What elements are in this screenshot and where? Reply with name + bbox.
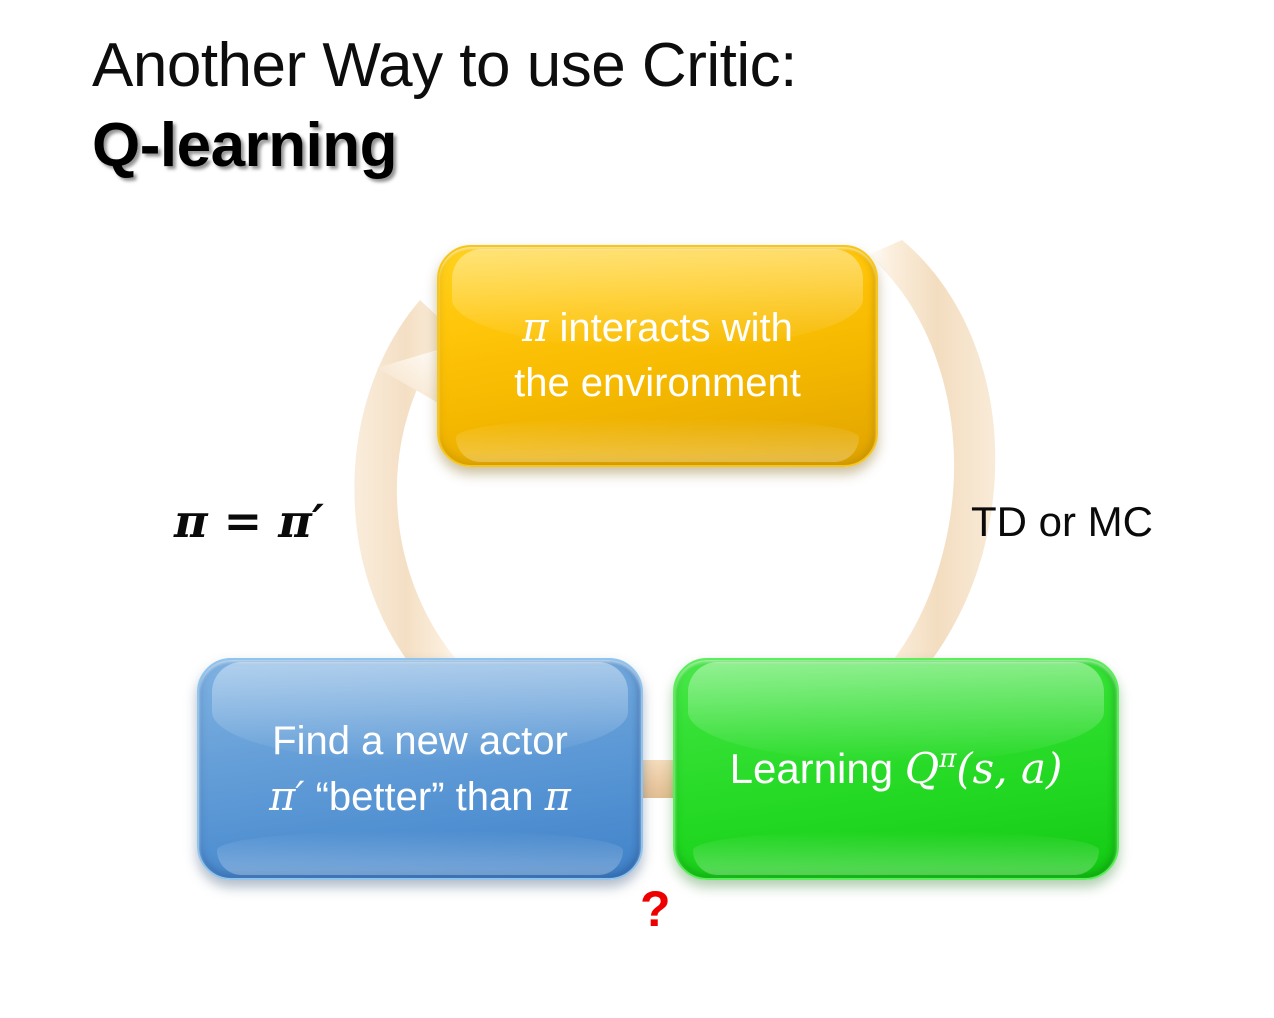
node-new-actor-line1: Find a new actor <box>217 713 623 769</box>
learning-label: Learning <box>730 745 905 792</box>
q-superscript-pi: π <box>939 744 956 774</box>
arrow-right-td-mc <box>866 240 995 690</box>
node-environment[interactable]: π interacts with the environment <box>437 245 878 467</box>
node-new-actor[interactable]: Find a new actor π′ “better” than π <box>197 658 643 880</box>
pi-symbol-2: π <box>545 774 571 820</box>
pi-prime-symbol: π′ <box>269 774 304 820</box>
connector-blue-green <box>643 760 675 798</box>
node-environment-line1-text: interacts with <box>548 306 793 350</box>
node-learning-q-text: Learning Qπ(s, a) <box>693 742 1099 797</box>
pi-symbol: π <box>522 305 548 351</box>
page-title: Another Way to use Critic: Q-learning <box>92 34 1192 178</box>
node-learning-q[interactable]: Learning Qπ(s, a) <box>673 658 1119 880</box>
q-symbol: Q <box>905 744 939 793</box>
node-new-actor-line2-text: “better” than <box>304 775 544 819</box>
node-new-actor-line2: π′ “better” than π <box>217 769 623 825</box>
question-mark-annotation: ? <box>640 884 671 934</box>
title-line-primary: Another Way to use Critic: <box>92 34 1192 97</box>
title-line-emphasis: Q-learning <box>92 113 1192 178</box>
node-environment-line1: π interacts with <box>457 301 858 356</box>
node-environment-line2: the environment <box>457 356 858 411</box>
q-arguments: (s, a) <box>956 744 1062 793</box>
edge-label-pi-equals-pi-prime: π = π′ <box>174 494 324 548</box>
edge-label-td-or-mc: TD or MC <box>971 498 1153 546</box>
